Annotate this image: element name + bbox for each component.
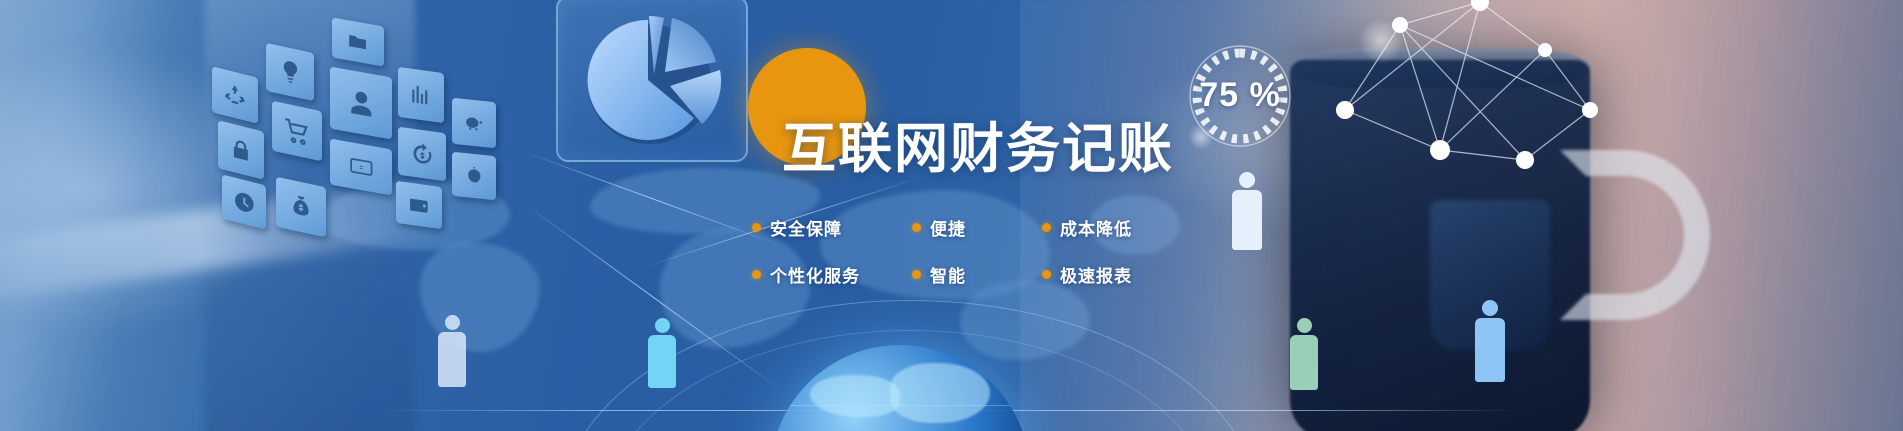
icon-cube (200, 20, 500, 240)
feature-item: 便捷 (912, 215, 1042, 240)
marketing-banner: 75 % 互联网财务记账 安全保障 便捷 成本降低 个性化服务 (0, 0, 1903, 431)
refresh-dollar-icon (398, 127, 446, 182)
feature-item: 成本降低 (1042, 215, 1172, 240)
feature-label: 便捷 (930, 215, 966, 240)
page-title: 互联网财务记账 (782, 122, 1174, 176)
bokeh-light (1358, 18, 1404, 64)
lock-icon (218, 120, 264, 179)
lightbulb-icon (266, 43, 314, 101)
bullet-dot-icon (912, 223, 921, 232)
feature-item: 个性化服务 (752, 262, 912, 287)
feature-list: 安全保障 便捷 成本降低 个性化服务 智能 极速报表 (752, 215, 1172, 309)
feature-item: 极速报表 (1042, 262, 1172, 287)
feature-label: 个性化服务 (770, 262, 860, 287)
network-nodes-icon (1290, 0, 1620, 240)
feature-row: 安全保障 便捷 成本降低 (752, 215, 1172, 240)
person-silhouette-icon (1232, 172, 1262, 250)
feature-item: 安全保障 (752, 215, 912, 240)
folder-icon (332, 17, 384, 66)
bullet-dot-icon (752, 223, 761, 232)
feature-row: 个性化服务 智能 极速报表 (752, 262, 1172, 287)
bullet-dot-icon (752, 270, 761, 279)
wallet-icon (396, 181, 442, 229)
completion-gauge: 75 % (1175, 36, 1305, 154)
pie-chart-icon (566, 0, 742, 160)
person-silhouette-icon (648, 318, 676, 388)
recycle-icon (212, 66, 258, 123)
bar-chart-icon (398, 67, 444, 123)
feature-label: 极速报表 (1060, 262, 1132, 287)
pie-chart-panel (556, 0, 748, 162)
money-icon (452, 152, 496, 201)
credit-card-icon (330, 139, 392, 196)
feature-label: 安全保障 (770, 215, 842, 240)
feature-item: 智能 (912, 262, 1042, 287)
feature-label: 成本降低 (1060, 215, 1132, 240)
money-bag-icon (276, 177, 326, 238)
clock-icon (222, 175, 266, 230)
bullet-dot-icon (1042, 223, 1051, 232)
person-silhouette-icon (1290, 318, 1318, 390)
person-silhouette-icon (438, 315, 466, 387)
user-icon (330, 67, 392, 140)
piggy-bank-icon (452, 98, 496, 149)
feature-label: 智能 (930, 262, 966, 287)
person-silhouette-icon (1475, 300, 1505, 382)
shopping-cart-icon (272, 101, 322, 162)
bullet-dot-icon (1042, 270, 1051, 279)
bullet-dot-icon (912, 270, 921, 279)
gauge-value: 75 % (1175, 36, 1305, 154)
